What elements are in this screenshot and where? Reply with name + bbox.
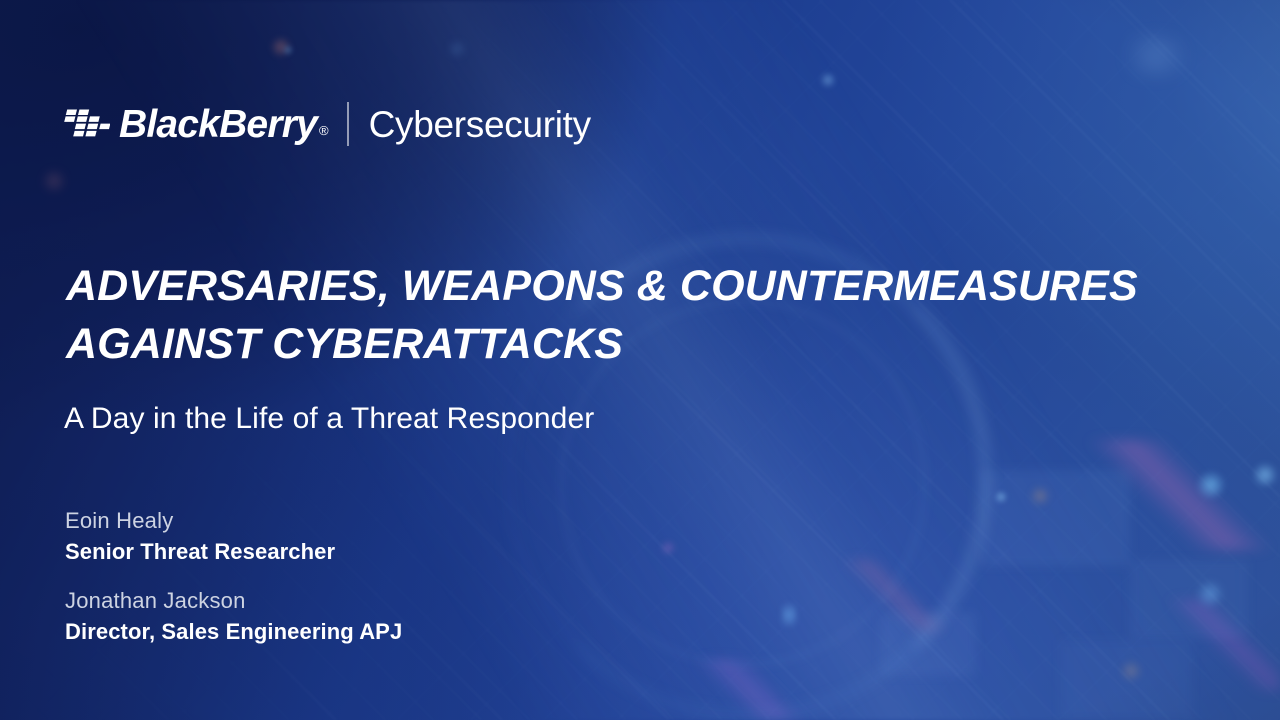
presenter-list: Eoin Healy Senior Threat Researcher Jona… <box>65 506 402 648</box>
slide-subtitle: A Day in the Life of a Threat Responder <box>64 399 594 439</box>
presenter-role: Director, Sales Engineering APJ <box>65 616 402 648</box>
brand-lockup: BlackBerry® Cybersecurity <box>64 98 591 150</box>
registered-trademark-symbol: ® <box>319 123 329 138</box>
presenter-name: Jonathan Jackson <box>65 586 402 616</box>
brand-name: BlackBerry® <box>119 105 329 144</box>
title-slide: BlackBerry® Cybersecurity Adversaries, W… <box>0 0 1280 720</box>
presenter-role: Senior Threat Researcher <box>65 536 402 568</box>
blackberry-dot-matrix-icon <box>64 109 110 140</box>
presenter-entry: Eoin Healy Senior Threat Researcher <box>65 506 402 568</box>
brand-divider <box>347 102 349 146</box>
presenter-name: Eoin Healy <box>65 506 402 536</box>
presenter-entry: Jonathan Jackson Director, Sales Enginee… <box>65 586 402 648</box>
slide-content: BlackBerry® Cybersecurity Adversaries, W… <box>0 0 1280 720</box>
brand-product-name: Cybersecurity <box>369 106 591 143</box>
slide-title: Adversaries, Weapons & Countermeasures A… <box>66 257 1176 373</box>
brand-name-text: BlackBerry <box>119 103 317 146</box>
